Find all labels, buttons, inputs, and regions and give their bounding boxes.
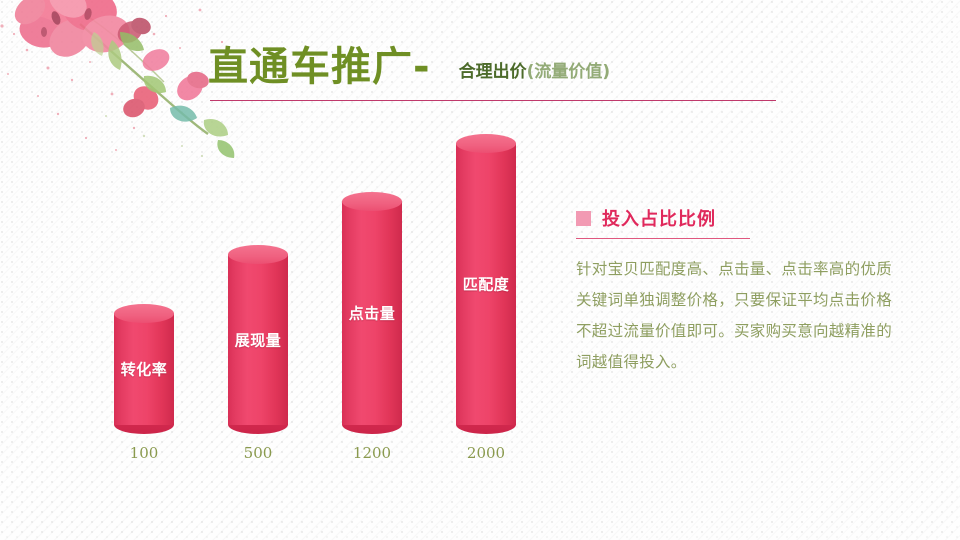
cylinder-bar-chart: 转化率100展现量500点击量1200匹配度2000 [0,0,560,540]
info-panel-title: 投入占比比例 [602,205,716,231]
bar-转化率[interactable]: 转化率 [114,304,174,434]
bar-点击量[interactable]: 点击量 [342,192,402,434]
info-panel-header: 投入占比比例 [576,205,926,231]
bar-展现量[interactable]: 展现量 [228,245,288,434]
bar-label: 转化率 [114,359,174,380]
bar-label: 点击量 [342,303,402,324]
cylinder-top-ellipse [456,134,516,153]
bar-value-label: 500 [228,444,288,462]
bar-匹配度[interactable]: 匹配度 [456,134,516,434]
square-bullet-icon [576,211,591,226]
bar-value-label: 100 [114,444,174,462]
bar-value-label: 2000 [456,444,516,462]
slide-canvas: 直通车推广- 合理出价(流量价值) 转化率100展现量500点击量1200匹配度… [0,0,960,540]
bar-value-label: 1200 [342,444,402,462]
info-panel-body: 针对宝贝匹配度高、点击量、点击率高的优质关键词单独调整价格，只要保证平均点击价格… [576,254,898,378]
cylinder-top-ellipse [114,304,174,323]
cylinder-top-ellipse [228,245,288,264]
bar-label: 匹配度 [456,274,516,295]
cylinder-top-ellipse [342,192,402,211]
info-panel-divider [576,238,750,239]
bar-label: 展现量 [228,329,288,350]
info-panel: 投入占比比例 针对宝贝匹配度高、点击量、点击率高的优质关键词单独调整价格，只要保… [576,205,926,378]
